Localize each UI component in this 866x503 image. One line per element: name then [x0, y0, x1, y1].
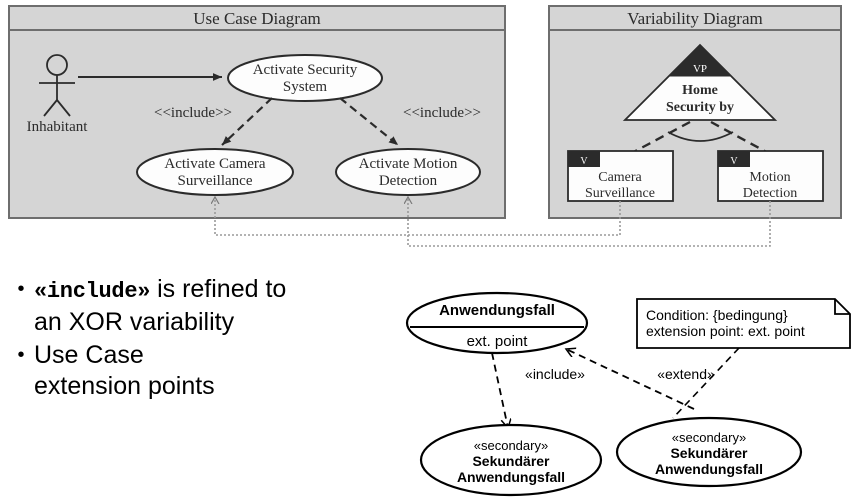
- use-case-secondary-extend-source: «secondary» Sekundärer Anwendungsfall: [617, 418, 801, 486]
- actor-label: Inhabitant: [27, 119, 89, 135]
- use-case-frame-title: Use Case Diagram: [193, 9, 320, 28]
- condition-note: Condition: {bedingung} extension point: …: [637, 299, 850, 348]
- use-case-label-line1: Activate Motion: [359, 156, 458, 172]
- anwendungsfall-title: Anwendungsfall: [439, 302, 555, 319]
- variation-point-line1: Home: [682, 83, 718, 98]
- use-case-secondary-include-target: «secondary» Sekundärer Anwendungsfall: [421, 425, 601, 495]
- variation-point-tag-label: VP: [693, 63, 707, 75]
- secondary-stereotype: «secondary»: [672, 430, 746, 445]
- bullet-line-2: extension points: [34, 371, 215, 402]
- use-case-label-line2: System: [283, 79, 328, 95]
- use-case-anwendungsfall: Anwendungsfall ext. point: [407, 293, 587, 353]
- include-relation-line: [492, 353, 508, 428]
- secondary-stereotype: «secondary»: [474, 438, 548, 453]
- extension-point-diagram: Anwendungsfall ext. point Condition: {be…: [407, 293, 850, 495]
- bullet-line-2: an XOR variability: [34, 307, 286, 338]
- bullet-item-extension-points: • Use Case extension points: [8, 340, 408, 402]
- variant-label-line1: Camera: [598, 170, 642, 185]
- anwendungsfall-extension-point: ext. point: [467, 333, 529, 350]
- use-case-activate-camera-surveillance: Activate Camera Surveillance: [137, 149, 293, 195]
- note-line1: Condition: {bedingung}: [646, 307, 788, 323]
- use-case-activate-security-system: Activate Security System: [228, 55, 382, 101]
- use-case-label-line2: Detection: [379, 173, 438, 189]
- variant-tag-label: V: [580, 156, 588, 167]
- include-label-left: <<include>>: [154, 105, 232, 121]
- include-label-right: <<include>>: [403, 105, 481, 121]
- use-case-label-line1: Activate Security: [253, 62, 358, 78]
- extend-relation-label: «extend»: [657, 366, 715, 382]
- note-anchor-line: [673, 348, 739, 418]
- secondary-label-line2: Anwendungsfall: [457, 469, 565, 485]
- use-case-label-line1: Activate Camera: [164, 156, 266, 172]
- variability-frame-title: Variability Diagram: [627, 9, 763, 28]
- bullet-text-block: Use Case extension points: [34, 340, 215, 402]
- variant-label-line2: Detection: [743, 186, 797, 201]
- bullet-line-1: «include» is refined to: [34, 274, 286, 307]
- bullet-list: • «include» is refined to an XOR variabi…: [8, 274, 408, 404]
- diagram-canvas: Use Case Diagram Inhabitant Activate Sec…: [0, 0, 866, 503]
- use-case-diagram-frame: Use Case Diagram Inhabitant Activate Sec…: [9, 6, 505, 218]
- secondary-label-line2: Anwendungsfall: [655, 461, 763, 477]
- bullet-line-1-rest: is refined to: [150, 275, 286, 303]
- variant-label-line2: Surveillance: [585, 186, 655, 201]
- note-line2: extension point: ext. point: [646, 323, 805, 339]
- variant-label-line1: Motion: [749, 170, 790, 185]
- include-keyword: «include»: [34, 279, 150, 304]
- bullet-item-include-refined: • «include» is refined to an XOR variabi…: [8, 274, 408, 338]
- slide-root: Use Case Diagram Inhabitant Activate Sec…: [0, 0, 866, 503]
- use-case-activate-motion-detection: Activate Motion Detection: [336, 149, 480, 195]
- variation-point-line2: Security by: [666, 100, 734, 115]
- secondary-label-line1: Sekundärer: [670, 445, 748, 461]
- secondary-label-line1: Sekundärer: [472, 453, 550, 469]
- use-case-label-line2: Surveillance: [178, 173, 253, 189]
- bullet-line-1: Use Case: [34, 340, 215, 371]
- bullet-marker-icon: •: [8, 340, 34, 370]
- variant-camera-surveillance: V Camera Surveillance: [568, 151, 673, 201]
- variant-motion-detection: V Motion Detection: [718, 151, 823, 201]
- variant-tag-label: V: [730, 156, 738, 167]
- bullet-marker-icon: •: [8, 274, 34, 304]
- include-relation-label: «include»: [525, 366, 585, 382]
- bullet-text-block: «include» is refined to an XOR variabili…: [34, 274, 286, 338]
